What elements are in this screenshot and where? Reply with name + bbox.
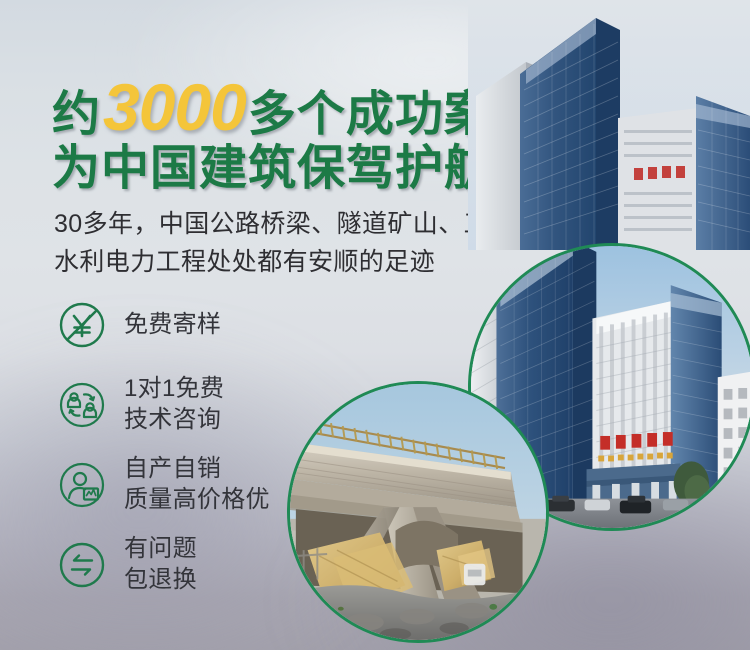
feature-item-self-production[interactable]: 自产自销 质量高价格优 (54, 456, 384, 514)
headline-number: 3000 (103, 70, 246, 144)
feature-line: 有问题 (124, 534, 197, 565)
feature-item-consultation[interactable]: 1对1免费 技术咨询 (54, 376, 384, 434)
self-production-chart-icon (54, 457, 110, 513)
feature-item-return-exchange-label: 有问题 包退换 (124, 534, 197, 595)
feature-line: 1对1免费 (124, 374, 224, 405)
feature-item-return-exchange[interactable]: 有问题 包退换 (54, 536, 384, 594)
no-fee-yen-icon (54, 297, 110, 353)
feature-item-consultation-label: 1对1免费 技术咨询 (124, 374, 224, 435)
feature-line: 质量高价格优 (124, 485, 270, 516)
feature-line: 包退换 (124, 565, 197, 596)
feature-line: 自产自销 (124, 454, 270, 485)
headline-prefix: 约 (52, 88, 101, 141)
feature-line: 免费寄样 (124, 310, 221, 341)
feature-item-free-sample[interactable]: 免费寄样 (54, 296, 384, 354)
feature-line: 技术咨询 (124, 405, 224, 436)
feature-list: 免费寄样 1对1免费 技术咨询 (54, 296, 384, 616)
feature-item-free-sample-label: 免费寄样 (124, 310, 221, 341)
feature-item-self-production-label: 自产自销 质量高价格优 (124, 454, 270, 515)
promo-banner: 约3000多个成功案例， 为中国建筑保驾护航 30多年，中国公路桥梁、隧道矿山、… (0, 0, 750, 650)
one-to-one-consult-icon (54, 377, 110, 433)
building-photo-bleed (468, 0, 750, 250)
exchange-return-icon (54, 537, 110, 593)
